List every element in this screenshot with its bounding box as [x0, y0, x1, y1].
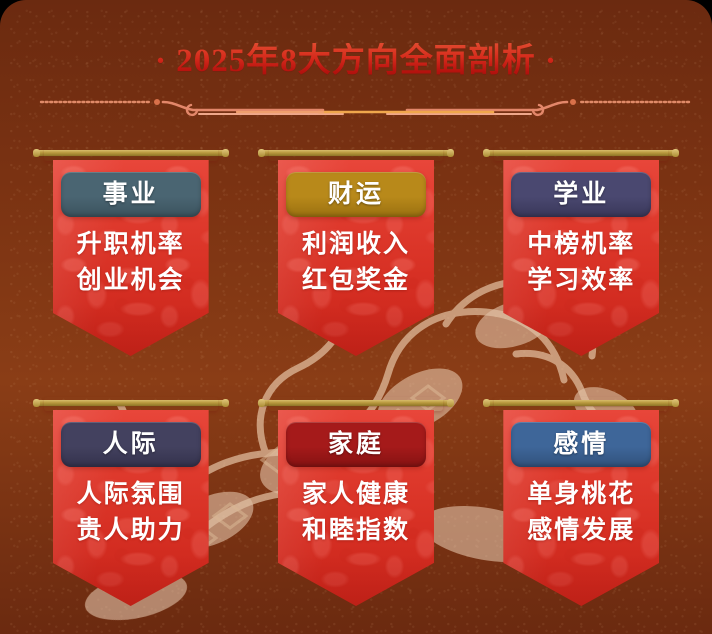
- banner-lines: 单身桃花 感情发展: [489, 477, 673, 548]
- banner-lines: 人际氛围 贵人助力: [39, 477, 223, 548]
- category-label: 感情: [553, 432, 609, 457]
- pennant-shading: [503, 304, 659, 356]
- banner-line-2: 红包奖金: [264, 263, 448, 299]
- banner-line-1: 人际氛围: [39, 477, 223, 513]
- banner-lines: 升职机率 创业机会: [39, 227, 223, 298]
- banner-lines: 利润收入 红包奖金: [264, 227, 448, 298]
- banner-card[interactable]: 事业 升职机率 创业机会: [31, 139, 231, 367]
- banner-card[interactable]: 感情 单身桃花 感情发展: [481, 389, 681, 617]
- ornamental-divider-icon: [23, 93, 703, 117]
- poster-root: · 2025年8大方向全面剖析 ·: [0, 0, 712, 634]
- banner-line-1: 利润收入: [264, 227, 448, 263]
- banner-valance: [269, 397, 443, 411]
- category-label: 人际: [103, 432, 159, 457]
- banner-card[interactable]: 人际 人际氛围 贵人助力: [31, 389, 231, 617]
- pennant-shading: [53, 554, 209, 606]
- category-plaque[interactable]: 学业: [511, 172, 651, 217]
- banner-lines: 中榜机率 学习效率: [489, 227, 673, 298]
- category-plaque[interactable]: 家庭: [286, 422, 426, 467]
- title-block: · 2025年8大方向全面剖析 ·: [9, 43, 703, 81]
- category-plaque[interactable]: 感情: [511, 422, 651, 467]
- banner-card[interactable]: 财运 利润收入 红包奖金: [256, 139, 456, 367]
- banner-line-2: 创业机会: [39, 263, 223, 299]
- category-label: 家庭: [328, 432, 384, 457]
- banner-card[interactable]: 学业 中榜机率 学习效率: [481, 139, 681, 367]
- banner-line-1: 中榜机率: [489, 227, 673, 263]
- pennant-shading: [503, 554, 659, 606]
- banner-lines: 家人健康 和睦指数: [264, 477, 448, 548]
- paper-surface: · 2025年8大方向全面剖析 ·: [9, 9, 703, 634]
- banner-line-2: 感情发展: [489, 513, 673, 549]
- pennant-shading: [53, 304, 209, 356]
- category-plaque[interactable]: 人际: [61, 422, 201, 467]
- banner-valance: [44, 397, 218, 411]
- category-plaque[interactable]: 事业: [61, 172, 201, 217]
- banner-valance: [44, 147, 218, 161]
- category-label: 事业: [103, 182, 159, 207]
- banner-valance: [494, 397, 668, 411]
- banner-valance: [494, 147, 668, 161]
- category-plaque[interactable]: 财运: [286, 172, 426, 217]
- banner-line-1: 家人健康: [264, 477, 448, 513]
- banner-line-2: 和睦指数: [264, 513, 448, 549]
- page-title: · 2025年8大方向全面剖析 ·: [155, 43, 557, 81]
- banner-line-1: 单身桃花: [489, 477, 673, 513]
- banner-valance: [269, 147, 443, 161]
- banner-line-2: 贵人助力: [39, 513, 223, 549]
- banner-grid: 事业 升职机率 创业机会 财运 利润收入: [18, 139, 694, 634]
- banner-line-2: 学习效率: [489, 263, 673, 299]
- banner-card[interactable]: 家庭 家人健康 和睦指数: [256, 389, 456, 617]
- pennant-shading: [278, 304, 434, 356]
- banner-line-1: 升职机率: [39, 227, 223, 263]
- pennant-shading: [278, 554, 434, 606]
- category-label: 财运: [328, 182, 384, 207]
- category-label: 学业: [553, 182, 609, 207]
